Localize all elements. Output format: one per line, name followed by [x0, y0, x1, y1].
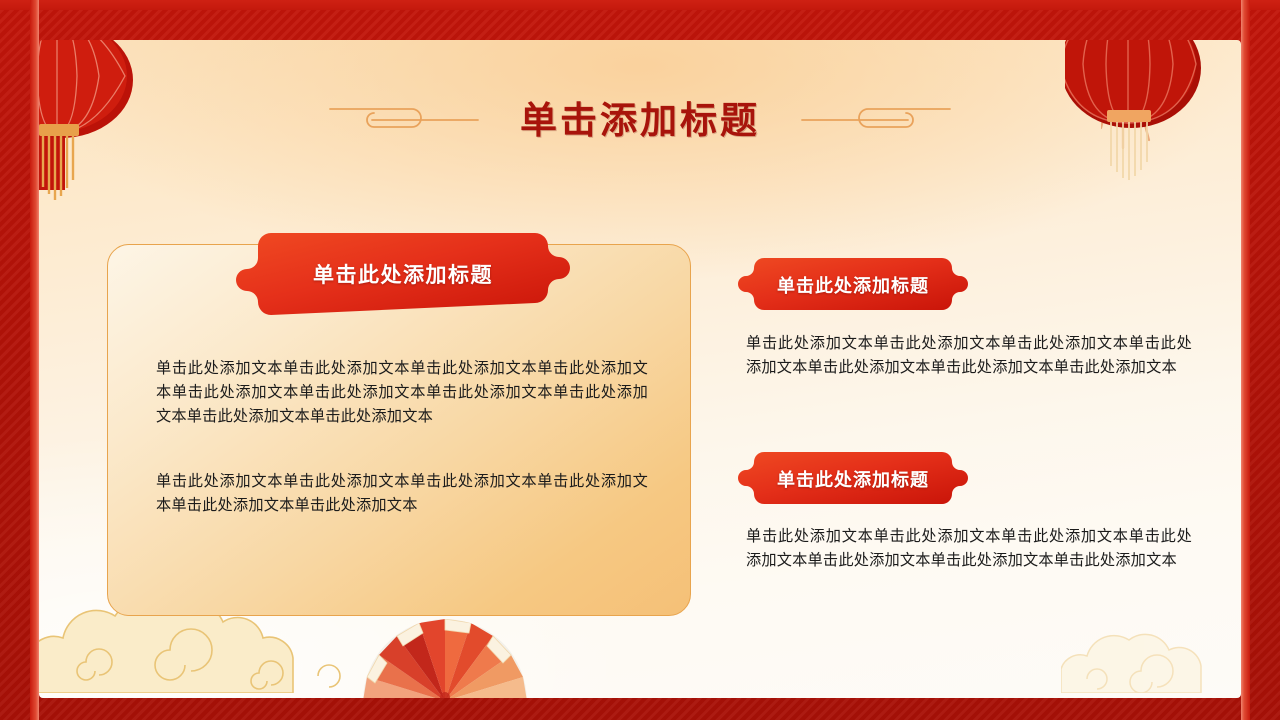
ruyi-cloud-line-right-icon [800, 96, 952, 139]
left-section-banner[interactable]: 单击此处添加标题 [236, 230, 570, 318]
auspicious-clouds-bottom-right-icon [1061, 613, 1211, 698]
folding-fan-bottom-center-icon [357, 605, 533, 698]
slide-title-row: 单击添加标题 [39, 88, 1241, 146]
frame-left-stripe [30, 0, 39, 720]
page-title: 单击添加标题 [520, 90, 760, 144]
right-section-banner-2[interactable]: 单击此处添加标题 [737, 450, 969, 508]
left-paragraph-1: 单击此处添加文本单击此处添加文本单击此处添加文本单击此处添加文本单击此处添加文本… [156, 357, 648, 429]
right-section-banner-1[interactable]: 单击此处添加标题 [737, 256, 969, 314]
left-paragraph-2: 单击此处添加文本单击此处添加文本单击此处添加文本单击此处添加文本单击此处添加文本… [156, 470, 648, 518]
right-paragraph-2: 单击此处添加文本单击此处添加文本单击此处添加文本单击此处添加文本单击此处添加文本… [746, 525, 1192, 573]
right-section-banner-1-label: 单击此处添加标题 [777, 272, 929, 298]
slide-canvas: 单击添加标题 [0, 0, 1280, 720]
slide-content-area: 单击添加标题 [39, 40, 1241, 698]
frame-right-stripe [1241, 0, 1250, 720]
left-section-banner-label: 单击此处添加标题 [313, 259, 493, 289]
right-paragraph-1: 单击此处添加文本单击此处添加文本单击此处添加文本单击此处添加文本单击此处添加文本… [746, 332, 1192, 380]
frame-top-stripe [0, 0, 1280, 10]
ruyi-cloud-line-left-icon [328, 96, 480, 139]
right-section-banner-2-label: 单击此处添加标题 [777, 466, 929, 492]
